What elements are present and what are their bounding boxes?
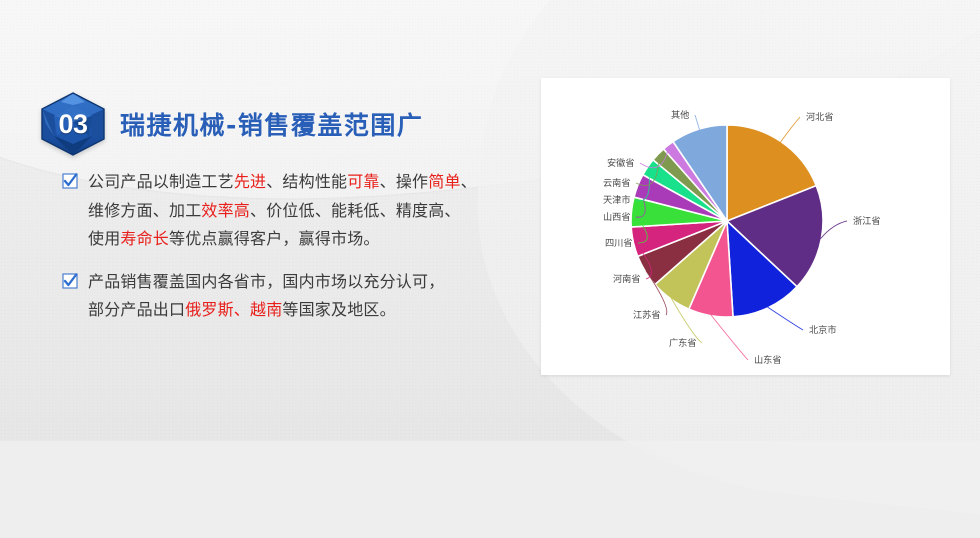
pie-label-北京市: 北京市 <box>809 324 837 336</box>
text-run-highlight: 先进 <box>234 172 266 191</box>
pie-slice-group <box>631 125 823 317</box>
text-run: 公司产品以制造工艺 <box>88 172 234 191</box>
text-run: 、 <box>461 172 477 191</box>
pie-label-四川省: 四川省 <box>605 237 633 249</box>
pie-label-河北省: 河北省 <box>806 111 834 123</box>
bullet-text: 公司产品以制造工艺先进、结构性能可靠、操作简单、 维修方面、加工效率高、价位低、… <box>88 168 562 254</box>
section-heading: 03 瑞捷机械-销售覆盖范围广 <box>40 92 423 156</box>
text-run-highlight: 俄罗斯、越南 <box>185 300 282 319</box>
text-run-highlight: 寿命长 <box>120 229 169 248</box>
bullet-line: 维修方面、加工效率高、价位低、能耗低、精度高、 <box>88 197 562 226</box>
bullet-line: 部分产品出口俄罗斯、越南等国家及地区。 <box>88 296 562 325</box>
text-run: 等国家及地区。 <box>282 300 395 319</box>
text-run: 维修方面、加工 <box>88 201 201 220</box>
text-run: 、价位低、能耗低、精度高、 <box>250 201 461 220</box>
bullet-line: 产品销售覆盖国内各省市，国内市场以充分认可， <box>88 268 562 297</box>
text-run: 部分产品出口 <box>88 300 185 319</box>
pie-leader-河北省 <box>780 117 800 142</box>
text-run: 、结构性能 <box>266 172 347 191</box>
pie-label-河南省: 河南省 <box>613 273 641 285</box>
pie-label-安徽省: 安徽省 <box>607 157 635 169</box>
text-run-highlight: 效率高 <box>201 201 250 220</box>
check-box-icon <box>62 273 78 289</box>
bullet-line: 公司产品以制造工艺先进、结构性能可靠、操作简单、 <box>88 168 562 197</box>
pie-label-山东省: 山东省 <box>754 354 782 366</box>
pie-label-山西省: 山西省 <box>603 211 631 223</box>
pie-label-云南省: 云南省 <box>603 177 631 189</box>
page-title: 瑞捷机械-销售覆盖范围广 <box>120 106 423 142</box>
pie-label-天津市: 天津市 <box>603 194 631 206</box>
bullet-text: 产品销售覆盖国内各省市，国内市场以充分认可， 部分产品出口俄罗斯、越南等国家及地… <box>88 268 562 325</box>
pie-leader-山东省 <box>711 315 748 360</box>
text-run: 等优点赢得客户，赢得市场。 <box>169 229 380 248</box>
pie-label-江苏省: 江苏省 <box>633 309 661 321</box>
pie-label-其他: 其他 <box>671 109 689 121</box>
bullet-line: 使用寿命长等优点赢得客户，赢得市场。 <box>88 225 562 254</box>
bullet-item: 公司产品以制造工艺先进、结构性能可靠、操作简单、 维修方面、加工效率高、价位低、… <box>62 168 562 254</box>
pie-leader-浙江省 <box>820 221 847 239</box>
text-run-highlight: 可靠 <box>347 172 379 191</box>
sales-distribution-pie-chart: 河北省浙江省北京市山东省广东省江苏省河南省四川省山西省天津市云南省安徽省其他 <box>541 78 950 375</box>
check-box-icon <box>62 173 78 189</box>
bullet-item: 产品销售覆盖国内各省市，国内市场以充分认可， 部分产品出口俄罗斯、越南等国家及地… <box>62 268 562 325</box>
pie-leader-北京市 <box>768 307 804 330</box>
pie-label-浙江省: 浙江省 <box>853 215 881 227</box>
text-run-highlight: 简单 <box>428 172 460 191</box>
sales-coverage-chart-card: 河北省浙江省北京市山东省广东省江苏省河南省四川省山西省天津市云南省安徽省其他 <box>541 78 950 375</box>
text-run: 使用 <box>88 229 120 248</box>
text-run: 、操作 <box>380 172 429 191</box>
text-run: 产品销售覆盖国内各省市，国内市场以充分认可， <box>88 272 444 291</box>
feature-bullet-list: 公司产品以制造工艺先进、结构性能可靠、操作简单、 维修方面、加工效率高、价位低、… <box>62 168 562 333</box>
section-number: 03 <box>58 111 87 138</box>
pie-label-广东省: 广东省 <box>669 337 697 349</box>
section-number-badge: 03 <box>40 92 106 156</box>
pie-leader-其他 <box>695 115 700 131</box>
